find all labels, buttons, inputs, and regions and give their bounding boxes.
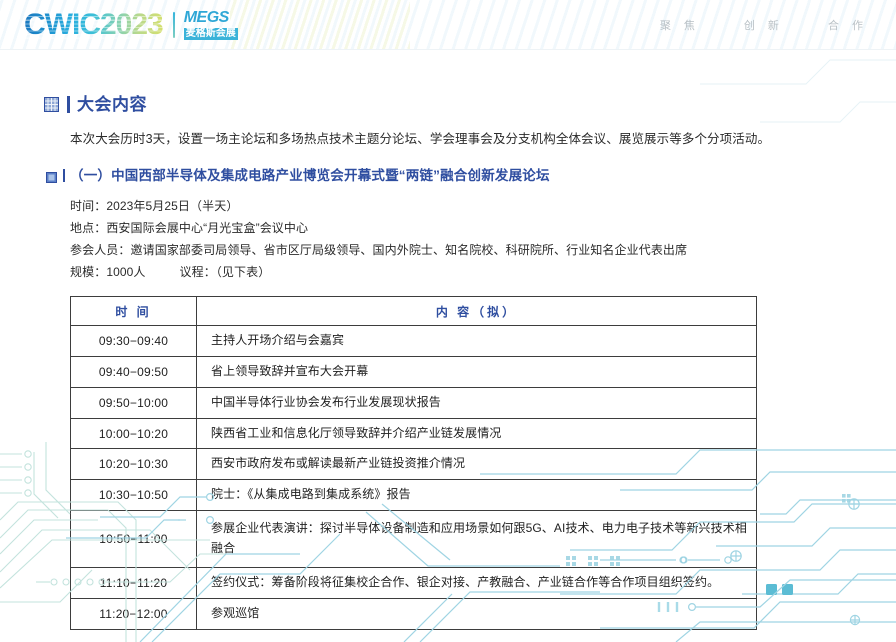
detail-label-agenda: 议程： [180,265,216,279]
table-row: 11:20−12:00 参观巡馆 [71,598,757,629]
subsection-heading: （一）中国西部半导体及集成电路产业博览会开幕式暨“两链”融合创新发展论坛 [46,169,896,183]
slogan-word-2: 创 新 [744,17,784,33]
table-row: 09:30−09:40 主持人开场介绍与会嘉宾 [71,326,757,357]
cell-time: 10:20−10:30 [71,449,197,480]
detail-value-scale: 1000人 [106,265,145,279]
detail-value-venue: 西安国际会展中心“月光宝盒”会议中心 [106,221,308,235]
cell-time: 10:30−10:50 [71,480,197,511]
subsection-details: 时间：2023年5月25日（半天） 地点：西安国际会展中心“月光宝盒”会议中心 … [70,195,896,284]
header-stripe-pattern-accent [230,0,410,50]
logo-megs-cn: 麦格斯会展 [184,28,238,40]
detail-row-time: 时间：2023年5月25日（半天） [70,195,896,217]
table-row: 10:50−11:00 参展企业代表演讲：探讨半导体设备制造和应用场景如何跟5G… [71,511,757,568]
logo-cwic-text: CWIC2023 [24,10,163,40]
cell-content: 参展企业代表演讲：探讨半导体设备制造和应用场景如何跟5G、AI技术、电力电子技术… [197,511,757,568]
cell-content: 院士：《从集成电路到集成系统》报告 [197,480,757,511]
section-accent-bar [67,96,70,113]
detail-value-attendees: 邀请国家部委司局领导、省市区厅局级领导、国内外院士、知名院校、科研院所、行业知名… [131,243,688,257]
square-icon [46,170,57,181]
section-paragraph: 本次大会历时3天，设置一场主论坛和多场热点技术主题分论坛、学会理事会及分支机构全… [70,129,896,149]
subsection-accent-bar [63,169,65,182]
cell-content: 主持人开场介绍与会嘉宾 [197,326,757,357]
detail-label-time: 时间： [70,199,106,213]
page-header: CWIC2023 MEGS 麦格斯会展 聚 焦 创 新 合 作 [0,0,896,50]
table-row: 09:40−09:50 省上领导致辞并宣布大会开幕 [71,357,757,388]
table-row: 09:50−10:00 中国半导体行业协会发布行业发展现状报告 [71,387,757,418]
cell-time: 09:50−10:00 [71,387,197,418]
cell-content: 参观巡馆 [197,598,757,629]
section-heading: 大会内容 [44,96,896,113]
table-row: 10:30−10:50 院士：《从集成电路到集成系统》报告 [71,480,757,511]
column-header-content: 内 容（拟） [197,297,757,326]
page-content: 大会内容 本次大会历时3天，设置一场主论坛和多场热点技术主题分论坛、学会理事会及… [0,50,896,630]
logo-megs-en: MEGS [184,10,238,26]
cell-time: 09:40−09:50 [71,357,197,388]
agenda-table: 时 间 内 容（拟） 09:30−09:40 主持人开场介绍与会嘉宾 09:40… [70,296,757,629]
header-slogan: 聚 焦 创 新 合 作 [660,0,868,50]
cell-content: 中国半导体行业协会发布行业发展现状报告 [197,387,757,418]
logo-divider [173,12,175,38]
slogan-word-3: 合 作 [828,17,868,33]
cell-time: 09:30−09:40 [71,326,197,357]
detail-value-time: 2023年5月25日（半天） [106,199,238,213]
agenda-table-wrapper: 时 间 内 容（拟） 09:30−09:40 主持人开场介绍与会嘉宾 09:40… [70,296,756,629]
cell-content: 省上领导致辞并宣布大会开幕 [197,357,757,388]
cell-time: 11:10−11:20 [71,568,197,599]
cell-content: 陕西省工业和信息化厅领导致辞并介绍产业链发展情况 [197,418,757,449]
slogan-word-1: 聚 焦 [660,17,700,33]
detail-row-attendees: 参会人员：邀请国家部委司局领导、省市区厅局级领导、国内外院士、知名院校、科研院所… [70,239,896,261]
cell-time: 10:50−11:00 [71,511,197,568]
table-row: 10:00−10:20 陕西省工业和信息化厅领导致辞并介绍产业链发展情况 [71,418,757,449]
detail-value-agenda: （见下表） [216,265,271,279]
detail-label-attendees: 参会人员： [70,243,131,257]
table-row: 11:10−11:20 签约仪式：筹备阶段将征集校企合作、银企对接、产教融合、产… [71,568,757,599]
cell-content: 签约仪式：筹备阶段将征集校企合作、银企对接、产教融合、产业链合作等合作项目组织签… [197,568,757,599]
brand-logo[interactable]: CWIC2023 MEGS 麦格斯会展 [24,8,238,42]
detail-label-venue: 地点： [70,221,106,235]
subsection-title: （一）中国西部半导体及集成电路产业博览会开幕式暨“两链”融合创新发展论坛 [70,169,550,183]
cell-time: 10:00−10:20 [71,418,197,449]
page-title: 大会内容 [77,96,147,113]
table-row: 10:20−10:30 西安市政府发布或解读最新产业链投资推介情况 [71,449,757,480]
agenda-table-body: 09:30−09:40 主持人开场介绍与会嘉宾 09:40−09:50 省上领导… [71,326,757,629]
cell-time: 11:20−12:00 [71,598,197,629]
table-header-row: 时 间 内 容（拟） [71,297,757,326]
detail-row-scale: 规模：1000人议程：（见下表） [70,261,896,283]
cell-content: 西安市政府发布或解读最新产业链投资推介情况 [197,449,757,480]
detail-row-venue: 地点：西安国际会展中心“月光宝盒”会议中心 [70,217,896,239]
logo-megs: MEGS 麦格斯会展 [184,10,238,40]
detail-label-scale: 规模： [70,265,106,279]
column-header-time: 时 间 [71,297,197,326]
grid-square-icon [44,97,59,112]
